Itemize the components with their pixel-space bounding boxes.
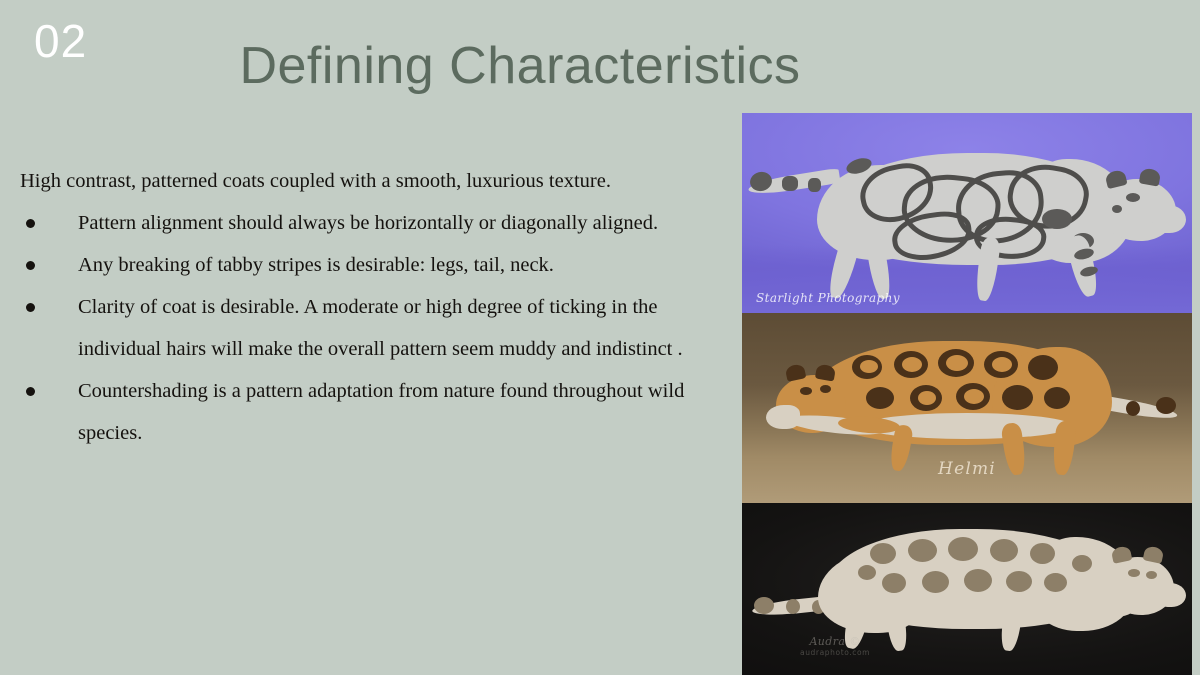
list-item: Countershading is a pattern adaptation f… xyxy=(20,370,700,454)
bullet-list: Pattern alignment should always be horiz… xyxy=(20,202,700,454)
presentation-slide: 02 Defining Characteristics High contras… xyxy=(0,0,1200,675)
intro-paragraph: High contrast, patterned coats coupled w… xyxy=(20,160,640,202)
list-item: Any breaking of tabby stripes is desirab… xyxy=(20,244,700,286)
photo-brown-rosetted-bengal: Helmi xyxy=(742,313,1192,503)
photo-watermark-sublabel: audraphoto.com xyxy=(800,648,870,657)
body-content: High contrast, patterned coats coupled w… xyxy=(20,160,700,454)
list-item-label: Clarity of coat is desirable. A moderate… xyxy=(78,286,700,370)
bullet-dot-icon xyxy=(26,303,35,312)
list-item-label: Countershading is a pattern adaptation f… xyxy=(78,370,700,454)
photo-stack: Starlight Photography xyxy=(742,113,1192,675)
photo-background xyxy=(742,113,1192,313)
photo-watermark: Helmi xyxy=(938,459,996,479)
photo-watermark-label: Audra © xyxy=(809,635,860,648)
photo-watermark: Audra © audraphoto.com xyxy=(800,635,870,657)
bullet-dot-icon xyxy=(26,387,35,396)
list-item: Clarity of coat is desirable. A moderate… xyxy=(20,286,700,370)
photo-silver-marble-bengal: Starlight Photography xyxy=(742,113,1192,313)
bullet-dot-icon xyxy=(26,261,35,270)
page-title: Defining Characteristics xyxy=(0,38,1200,95)
list-item: Pattern alignment should always be horiz… xyxy=(20,202,700,244)
bullet-dot-icon xyxy=(26,219,35,228)
list-item-label: Pattern alignment should always be horiz… xyxy=(78,202,700,244)
photo-snow-spotted-bengal: Audra © audraphoto.com xyxy=(742,503,1192,675)
list-item-label: Any breaking of tabby stripes is desirab… xyxy=(78,244,700,286)
photo-watermark: Starlight Photography xyxy=(756,291,900,305)
